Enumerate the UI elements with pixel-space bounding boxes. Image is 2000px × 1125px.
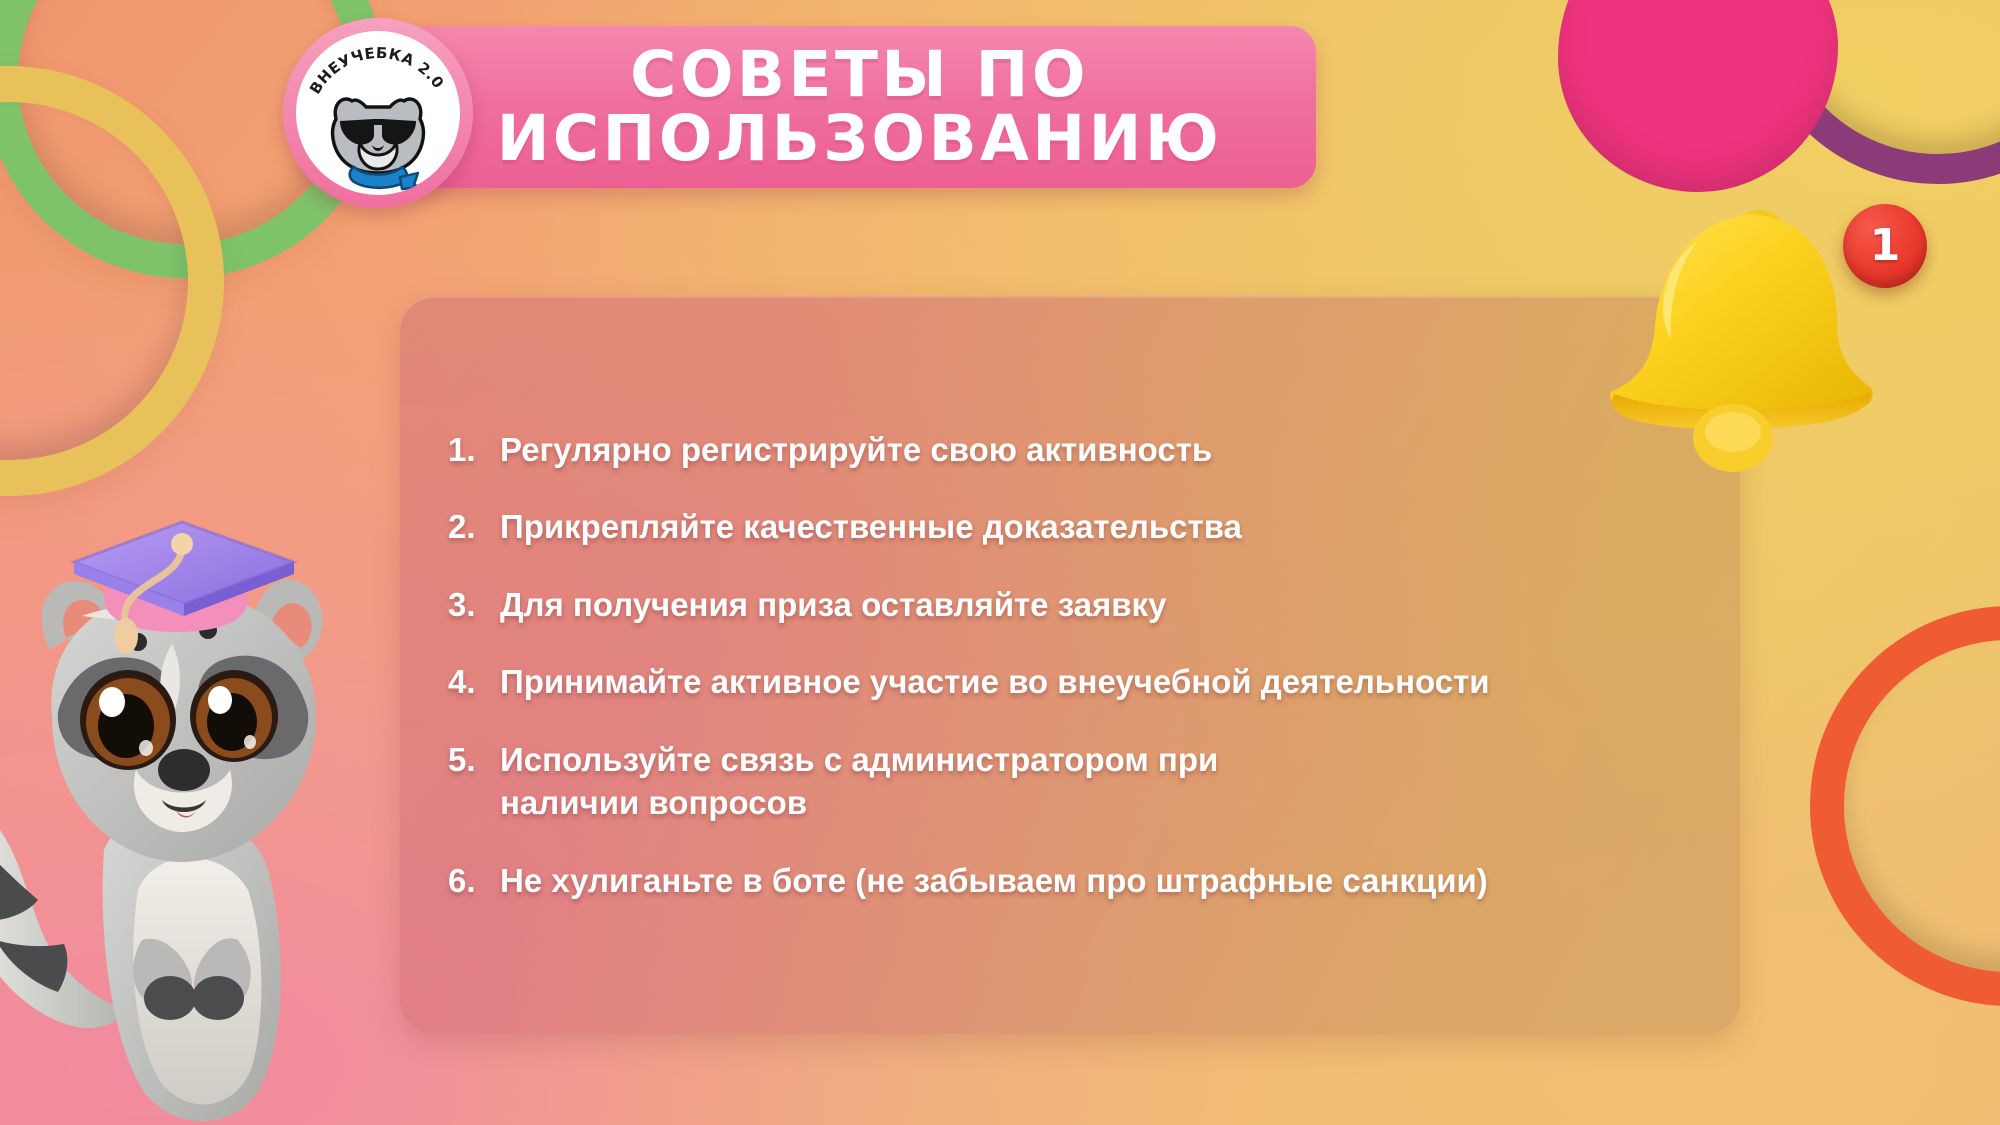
tip-number: 3. (448, 583, 500, 627)
title-banner: СОВЕТЫ ПО ИСПОЛЬЗОВАНИЮ (403, 26, 1316, 188)
tip-number: 4. (448, 660, 500, 704)
tips-card: 1. Регулярно регистрируйте свою активнос… (400, 296, 1740, 1034)
list-item: 5. Используйте связь с администратором п… (448, 738, 1688, 825)
list-item: 3. Для получения приза оставляйте заявку (448, 583, 1688, 627)
brand-logo: ВНЕУЧЕБКА 2.0 (283, 18, 473, 208)
list-item: 6. Не хулиганьте в боте (не забываем про… (448, 859, 1688, 903)
brand-logo-inner: ВНЕУЧЕБКА 2.0 (296, 31, 460, 195)
list-item: 4. Принимайте активное участие во внеуче… (448, 660, 1688, 704)
tip-number: 5. (448, 738, 500, 782)
page-title-line-1: СОВЕТЫ ПО (630, 38, 1089, 111)
list-item: 1. Регулярно регистрируйте свою активнос… (448, 428, 1688, 472)
tip-text: Используйте связь с администратором при … (500, 738, 1360, 825)
tip-text: Не хулиганьте в боте (не забываем про шт… (500, 859, 1488, 903)
page-title: СОВЕТЫ ПО ИСПОЛЬЗОВАНИЮ (477, 46, 1243, 168)
slide-root: СОВЕТЫ ПО ИСПОЛЬЗОВАНИЮ ВНЕУЧЕБКА 2.0 (0, 0, 2000, 1125)
tip-text: Для получения приза оставляйте заявку (500, 583, 1166, 627)
tips-list: 1. Регулярно регистрируйте свою активнос… (448, 428, 1688, 903)
raccoon-sunglasses-icon (318, 73, 438, 191)
ring-orange-decoration (1810, 606, 2000, 1006)
tip-number: 2. (448, 505, 500, 549)
tip-text: Прикрепляйте качественные доказательства (500, 505, 1242, 549)
notification-bell: 1 (1585, 196, 1915, 486)
tip-text: Регулярно регистрируйте свою активность (500, 428, 1212, 472)
tip-number: 1. (448, 428, 500, 472)
blob-pink-decoration (1558, 0, 1838, 192)
notification-badge-count: 1 (1870, 224, 1901, 268)
tip-text: Принимайте активное участие во внеучебно… (500, 660, 1490, 704)
page-title-line-2: ИСПОЛЬЗОВАНИЮ (497, 110, 1223, 168)
raccoon-graduate-icon (0, 470, 346, 1125)
notification-badge: 1 (1843, 204, 1927, 288)
list-item: 2. Прикрепляйте качественные доказательс… (448, 505, 1688, 549)
tip-number: 6. (448, 859, 500, 903)
